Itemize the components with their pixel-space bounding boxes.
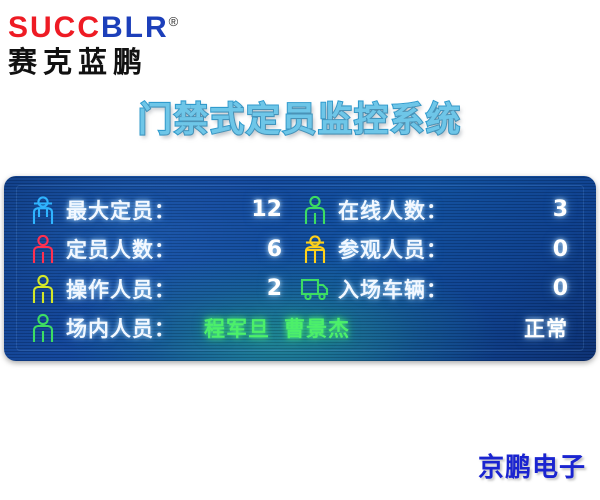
company-logo: SUCCBLR® 赛克蓝鹏 (8, 6, 238, 76)
led-field-onsite-personnel: 场内人员： 程军旦 曹景杰 正常 (28, 312, 572, 344)
led-row: 定员人数： 6 参观人员： 0 (28, 230, 572, 270)
page-title: 门禁式定员监控系统 (0, 92, 600, 141)
led-label: 最大定员： (66, 195, 176, 225)
led-field-online-count: 在线人数： 3 (300, 190, 572, 230)
person-with-cap-icon (28, 194, 58, 226)
led-value: 3 (553, 197, 572, 222)
led-row: 最大定员： 12 在线人数： 3 (28, 190, 572, 230)
led-field-max-capacity: 最大定员： 12 (28, 190, 300, 230)
led-label: 定员人数： (66, 234, 176, 264)
logo-wordmark-succ: SUCC (8, 11, 101, 44)
person-icon (300, 194, 330, 226)
led-label: 在线人数： (338, 195, 448, 225)
registered-trademark-icon: ® (169, 14, 179, 29)
led-field-vehicle-count: 入场车辆： 0 (300, 269, 572, 309)
led-row: 场内人员： 程军旦 曹景杰 正常 (28, 309, 572, 349)
visitor-person-with-cap-icon (300, 233, 330, 265)
onsite-person-name: 曹景杰 (284, 313, 350, 343)
led-value: 0 (553, 237, 572, 262)
person-icon (28, 233, 58, 265)
truck-icon (300, 273, 330, 305)
led-value: 2 (267, 276, 300, 301)
status-badge: 正常 (524, 313, 572, 343)
led-display-panel: 最大定员： 12 在线人数： 3 (4, 176, 596, 361)
led-content-grid: 最大定员： 12 在线人数： 3 (28, 190, 572, 348)
logo-chinese-name: 赛克蓝鹏 (8, 45, 238, 79)
led-value: 6 (267, 237, 300, 262)
led-label: 操作人员： (66, 274, 176, 304)
logo-wordmark: SUCCBLR® (8, 6, 238, 44)
led-label: 入场车辆： (338, 274, 448, 304)
led-field-operator-count: 操作人员： 2 (28, 269, 300, 309)
led-label: 场内人员： (66, 313, 176, 343)
led-label: 参观人员： (338, 234, 448, 264)
led-field-designated-count: 定员人数： 6 (28, 230, 300, 270)
led-field-visitor-count: 参观人员： 0 (300, 230, 572, 270)
logo-wordmark-blr: BLR (101, 11, 169, 44)
led-row: 操作人员： 2 入场车辆： 0 (28, 269, 572, 309)
led-value: 0 (553, 276, 572, 301)
footer-brand: 京鹏电子 (478, 447, 586, 484)
person-icon (28, 312, 58, 344)
onsite-person-name: 程军旦 (204, 313, 270, 343)
person-icon (28, 273, 58, 305)
led-value: 12 (251, 197, 300, 222)
